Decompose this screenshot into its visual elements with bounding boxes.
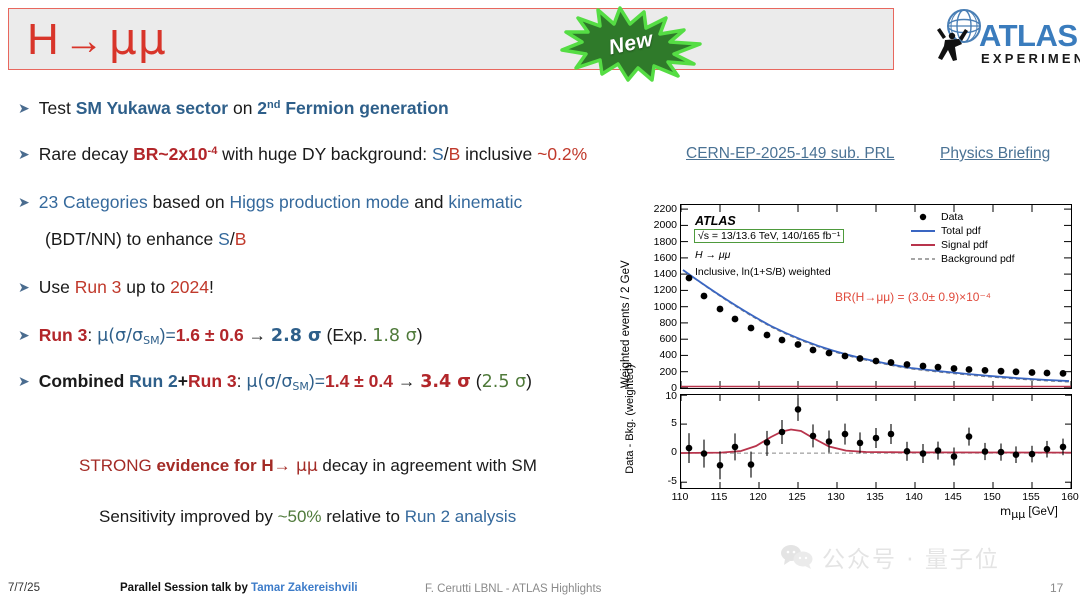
x-tick: 140 (905, 491, 923, 503)
bullet-7-text-b: Run 2 (129, 371, 178, 391)
bullet-3: ➤23 Categories based on Higgs production… (18, 191, 522, 213)
bullet-7-text-l: 2.5 σ (482, 372, 527, 392)
y-tick: -5 (668, 475, 677, 487)
bullet-2-text-f: B (449, 144, 461, 164)
footer-right-text: F. Cerutti LBNL - ATLAS Highlights (425, 583, 601, 595)
bullet-1-text-d: 2 (257, 98, 267, 118)
y-tick: 1400 (654, 268, 677, 280)
bullet-6-text-e: 1.6 ± 0.6 (176, 325, 244, 345)
bullet-6-text-i: 1.8 σ (372, 326, 417, 346)
bullet-3-text-e: kinematic (448, 192, 522, 212)
x-tick: 155 (1022, 491, 1040, 503)
y-tick: 1000 (654, 301, 677, 313)
bullet-5-text-d: 2024 (170, 277, 209, 297)
arrow-icon: → (274, 456, 291, 475)
bullet-5: ➤Run 3: μ(σ/σSM)=1.6 ± 0.6 → 2.8 σ (Exp.… (18, 324, 423, 352)
energy-lumi-box: √s = 13/13.6 TeV, 140/165 fb⁻¹ (694, 229, 844, 243)
title-tail: μμ (109, 14, 167, 65)
bullet-7-text-f: μ(σ/σ (246, 372, 292, 392)
bottom-panel-y-ticks: -5 0 5 10 (622, 394, 677, 489)
conclusion-2-b: ~50% (278, 507, 322, 526)
bullet-4: ➤Use Run 3 up to 2024! (18, 276, 214, 298)
atlas-label: ATLAS (695, 214, 736, 228)
conclusion-2-d: Run 2 analysis (405, 507, 517, 526)
bullet-2-text-a: Rare decay (39, 144, 133, 164)
legend-label: Background pdf (941, 253, 1015, 265)
x-tick: 145 (944, 491, 962, 503)
x-tick: 120 (749, 491, 767, 503)
bullet-6-text-g: 2.8 σ (271, 326, 322, 346)
bullet-5-text-e: ! (209, 277, 214, 297)
y-tick: 10 (665, 390, 677, 402)
bullet-2-text-h: ~0.2% (537, 144, 587, 164)
link-cern-ep-label[interactable]: CERN-EP-2025-149 sub. PRL (686, 145, 895, 162)
link-physics-briefing-label[interactable]: Physics Briefing (940, 145, 1050, 162)
energy-lumi-label: √s = 13/13.6 TeV, 140/165 fb⁻¹ (694, 229, 844, 243)
link-cern-ep[interactable]: CERN-EP-2025-149 sub. PRL (686, 145, 895, 163)
bullet-7-text-d: Run 3 (188, 371, 237, 391)
y-tick: 1600 (654, 252, 677, 264)
bullet-marker-icon: ➤ (18, 194, 39, 210)
line-icon (910, 226, 936, 236)
bullet-4-text-d: B (235, 229, 247, 249)
conclusion-1-d: decay in agreement with SM (318, 456, 537, 475)
new-badge: New (556, 6, 706, 82)
atlas-wordmark: ATLAS (979, 20, 1078, 51)
bullet-1-text-a: Test (39, 98, 76, 118)
page-title: H→μμ (27, 13, 167, 68)
legend-label: Signal pdf (941, 239, 988, 251)
bullet-7-text-j: 3.4 σ (420, 372, 471, 392)
bullet-2-text-g: inclusive (460, 144, 537, 164)
bullet-7-text-k: ( (471, 371, 482, 391)
bullet-1-text-b: SM Yukawa sector (76, 98, 228, 118)
dashed-line-icon (910, 254, 936, 264)
wechat-icon (780, 544, 814, 570)
category-label: Inclusive, ln(1+S/B) weighted (695, 266, 831, 278)
conclusion-1-c: μμ (291, 456, 318, 476)
bullet-6-text-h: (Exp. (322, 325, 373, 345)
legend-item-total-pdf: Total pdf (910, 224, 1015, 238)
legend-item-background-pdf: Background pdf (910, 252, 1015, 266)
footer-talk-credit: Parallel Session talk by Tamar Zakereish… (120, 582, 358, 594)
bullet-3-text-c: Higgs production mode (229, 192, 409, 212)
x-ticks: 110 115 120 125 130 135 140 145 150 155 … (680, 489, 1072, 505)
data-marker-icon (910, 212, 936, 222)
bullet-5-text-a: Use (39, 277, 75, 297)
bullet-3-text-d: and (409, 192, 448, 212)
bullet-marker-icon: ➤ (18, 146, 39, 162)
title-banner: H→μμ (8, 8, 894, 70)
bullet-3-continuation: (BDT/NN) to enhance S/B (45, 228, 246, 250)
x-tick: 115 (711, 491, 728, 503)
bullet-3-text-b: based on (148, 192, 230, 212)
bullet-1-text-d-sup: nd (267, 99, 280, 111)
title-head: H (27, 15, 60, 64)
bullet-7-text-i: → (393, 371, 420, 391)
conclusion-line-1: STRONG evidence for H→ μμ decay in agree… (79, 456, 537, 476)
y-tick: 5 (671, 417, 677, 429)
conclusion-2-c: relative to (322, 507, 405, 526)
y-tick: 0 (671, 446, 677, 458)
legend-item-signal-pdf: Signal pdf (910, 238, 1015, 252)
bullet-2-text-c: with huge DY background: (217, 144, 432, 164)
bullet-7-text-m: ) (526, 371, 532, 391)
y-tick: 200 (659, 366, 677, 378)
bullet-1-text-e: Fermion generation (280, 98, 448, 118)
atlas-sublabel: EXPERIMENT (981, 52, 1080, 65)
bullet-marker-icon: ➤ (18, 373, 39, 389)
atlas-logo: ATLAS EXPERIMENT (935, 8, 1075, 74)
bullet-6-text-c: μ(σ/σ (97, 326, 143, 346)
bullet-1-text-c: on (228, 98, 257, 118)
bullet-6: ➤Combined Run 2+Run 3: μ(σ/σSM)=1.4 ± 0.… (18, 370, 532, 398)
bullet-7-text-c: + (178, 371, 188, 391)
x-tick: 125 (788, 491, 806, 503)
bottom-panel-canvas (681, 395, 1071, 488)
page-number: 17 (1050, 581, 1063, 595)
watermark-text: 公众号 · 量子位 (822, 540, 1000, 574)
conclusion-line-2: Sensitivity improved by ~50% relative to… (99, 507, 516, 527)
bullet-1: ➤Test SM Yukawa sector on 2nd Fermion ge… (18, 94, 449, 119)
bullet-2-text-b-sup: -4 (208, 145, 218, 157)
bullet-6-text-f: → (244, 325, 271, 345)
bullet-6-text-a: Run 3 (39, 325, 88, 345)
mass-spectrum-figure: Weighted events / 2 GeV (622, 198, 1074, 518)
bullet-3-text-a: 23 Categories (39, 192, 148, 212)
bullet-marker-icon: ➤ (18, 327, 39, 343)
bullet-5-text-c: up to (121, 277, 170, 297)
bullet-7-text-h: 1.4 ± 0.4 (325, 371, 393, 391)
conclusion-2-a: Sensitivity improved by (99, 507, 278, 526)
bullet-marker-icon: ➤ (18, 279, 39, 295)
bottom-panel (680, 394, 1072, 489)
y-tick: 2200 (654, 203, 677, 215)
legend-label: Total pdf (941, 225, 981, 237)
bullet-7-text-a: Combined (39, 371, 129, 391)
bullet-6-text-b: : (87, 325, 97, 345)
bullet-2-text-d: S (432, 144, 444, 164)
bullet-7-text-e: : (237, 371, 247, 391)
bullet-6-text-c-sub: SM (143, 334, 159, 347)
y-tick: 2000 (654, 219, 677, 231)
x-tick: 150 (983, 491, 1001, 503)
legend-label: Data (941, 211, 963, 223)
slide: H→μμ New ATLAS EXPERIMENT ➤Test SM Yu (0, 0, 1080, 600)
arrow-icon: → (60, 19, 109, 63)
bullet-2: ➤Rare decay BR~2x10-4 with huge DY backg… (18, 140, 587, 165)
y-tick: 800 (659, 317, 677, 329)
process-label: H → μμ (695, 249, 730, 261)
bullet-2-text-b: BR~2x10 (133, 144, 207, 164)
branching-ratio-annotation: BR(H→μμ) = (3.0± 0.9)×10⁻⁴ (835, 290, 991, 304)
legend-item-data: Data (910, 210, 1015, 224)
x-tick: 160 (1061, 491, 1079, 503)
x-axis-label: mμμ [GeV] (1000, 504, 1058, 521)
y-tick: 1800 (654, 236, 677, 248)
x-tick: 110 (672, 491, 689, 503)
bullet-4-text-a: (BDT/NN) to enhance (45, 229, 218, 249)
x-tick: 130 (827, 491, 845, 503)
footer-talk-prefix: Parallel Session talk by (120, 582, 251, 594)
bullet-6-text-d: )= (160, 325, 176, 345)
conclusion-1-a: STRONG (79, 456, 156, 475)
bullet-7-text-f-sub: SM (292, 380, 308, 393)
bullet-marker-icon: ➤ (18, 100, 39, 116)
link-physics-briefing[interactable]: Physics Briefing (940, 145, 1050, 163)
y-tick: 1200 (654, 284, 677, 296)
y-tick: 400 (659, 349, 677, 361)
bullet-7-text-g: )= (309, 371, 325, 391)
x-tick: 135 (866, 491, 884, 503)
footer-speaker-link[interactable]: Tamar Zakereishvili (251, 582, 358, 594)
legend: Data Total pdf Signal pdf Background pdf (910, 210, 1015, 266)
bullet-5-text-b: Run 3 (75, 277, 122, 297)
footer-date: 7/7/25 (8, 582, 40, 594)
conclusion-1-b: evidence for H (156, 456, 273, 475)
watermark: 公众号 · 量子位 (780, 540, 1000, 574)
line-icon (910, 240, 936, 250)
y-tick: 600 (659, 333, 677, 345)
bullet-4-text-b: S (218, 229, 230, 249)
bullet-6-text-j: ) (417, 325, 423, 345)
